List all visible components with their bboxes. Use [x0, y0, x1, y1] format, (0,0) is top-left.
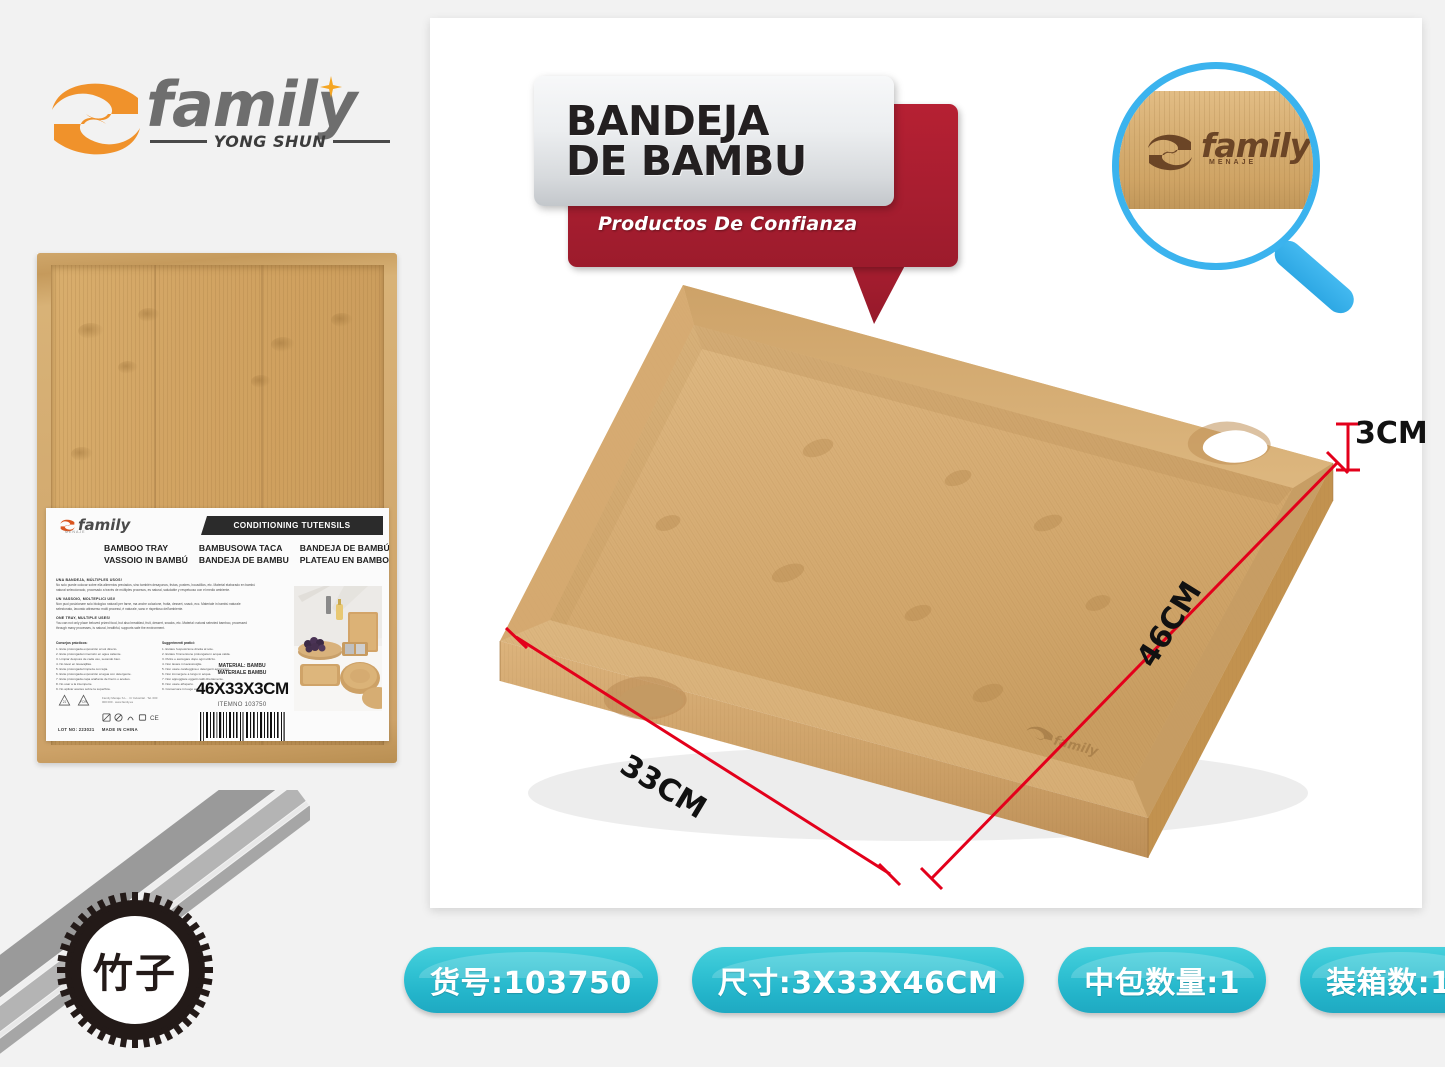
label-names-col-3: BANDEJA DE BAMBÚ PLATEAU EN BAMBOU: [300, 542, 389, 567]
label-care-8: 9. No aplicar aceites sobre la superfici…: [56, 687, 152, 692]
label-names-col-1: BAMBOO TRAY VASSOIO IN BAMBÚ: [104, 542, 188, 567]
badge-inner-pack-qty[interactable]: 中包数量:1: [1058, 947, 1266, 1013]
label-heading-en: ONE TRAY, MULTIPLE USES!: [56, 616, 256, 620]
engraved-brand-sub: MENAJE: [1209, 159, 1256, 166]
svg-text:FOR: FOR: [80, 700, 88, 704]
label-name-pt: BANDEJA DE BAMBU: [199, 554, 289, 566]
label-lot-and-origin: LOT NO: 223021 MADE IN CHINA: [58, 727, 138, 732]
material-badge-text: 竹子: [55, 890, 215, 1050]
brand-tagline: YONG SHUN: [214, 132, 327, 151]
banner-title-line1: BANDEJA: [566, 101, 894, 141]
label-care-col-es: Consejos prácticos: 1. Evite prolongada …: [56, 641, 152, 691]
badge-size-label: 尺寸:3X33X46CM: [718, 958, 999, 1002]
label-category-text: CONDITIONING TUTENSILS: [233, 521, 350, 530]
tagline-rule-right: [333, 140, 390, 143]
label-recycle-icons: 21 FOR: [58, 694, 90, 707]
banner-title-panel: BANDEJA DE BAMBU: [534, 76, 894, 206]
label-description-block: UNA BANDEJA, MÚLTIPLES USOS! No solo pue…: [56, 574, 256, 631]
family-hands-icon: [50, 80, 142, 158]
label-pictograms: CE: [102, 713, 159, 722]
label-company-address: Family Menaje S.L. · C/ Industrial · Tel…: [102, 696, 160, 705]
material-badge: 竹子: [55, 890, 215, 1050]
badge-inner-pack-qty-label: 中包数量:1: [1084, 958, 1240, 1002]
svg-text:21: 21: [63, 700, 67, 704]
barcode-icon: [198, 712, 286, 742]
badge-item-number-label: 货号:103750: [430, 958, 632, 1002]
bamboo-tray-illustration: family: [488, 273, 1348, 883]
label-names-col-2: BAMBUSOWA TACA BANDEJA DE BAMBU: [199, 542, 289, 567]
label-product-names: BAMBOO TRAY VASSOIO IN BAMBÚ BAMBUSOWA T…: [104, 542, 381, 567]
hand-wash-icon: [138, 713, 147, 722]
tray-product-photo: family: [488, 273, 1348, 883]
label-lifestyle-photo: [294, 586, 382, 711]
label-made-in: MADE IN CHINA: [102, 727, 138, 732]
engraved-logo: family MENAJE: [1147, 129, 1297, 173]
ce-mark-icon: CE: [150, 713, 159, 722]
engraved-hands-icon: [1147, 133, 1193, 172]
brand-logo: family YONG SHUN: [50, 72, 390, 172]
label-text-it: Non puoi posizionare solo biologico natu…: [56, 602, 256, 612]
lifestyle-scene-icon: [294, 586, 382, 711]
label-text-es: No solo puede colocar sobre ella aliment…: [56, 583, 256, 593]
svg-text:CE: CE: [150, 715, 159, 722]
recycle-icon-2: FOR: [77, 694, 90, 707]
label-name-it: VASSOIO IN BAMBÚ: [104, 554, 188, 566]
label-category-banner: CONDITIONING TUTENSILS: [201, 516, 383, 535]
badge-size[interactable]: 尺寸:3X33X46CM: [692, 947, 1025, 1013]
recycle-icon-1: 21: [58, 694, 71, 707]
badge-carton-qty[interactable]: 装箱数:10: [1300, 947, 1445, 1013]
label-name-en: BAMBOO TRAY: [104, 542, 188, 554]
label-item-no: ITEMNO 103750: [196, 702, 288, 708]
food-safe-icon: [126, 713, 135, 722]
label-material-block: MATERIAL: BAMBU MATERIALE BAMBU 46X33X3C…: [196, 663, 288, 741]
no-dishwasher-icon: [102, 713, 111, 722]
label-lot-no: LOT NO: 223021: [58, 727, 95, 732]
label-material-line1: MATERIAL: BAMBU: [196, 663, 288, 670]
label-brand-name: family: [78, 518, 130, 533]
label-heading-it: UN VASSOIO, MOLTEPLICI USI!: [56, 597, 256, 601]
label-size: 46X33X3CM: [196, 679, 288, 699]
main-product-card: BANDEJA DE BAMBU Productos De Confianza …: [430, 18, 1422, 908]
dim-label-height: 3CM: [1355, 416, 1428, 451]
label-heading-es: UNA BANDEJA, MÚLTIPLES USOS!: [56, 578, 256, 582]
sparkle-icon: [320, 76, 342, 98]
label-material-line2: MATERIALE BAMBU: [196, 670, 288, 677]
brand-tagline-row: YONG SHUN: [150, 132, 390, 151]
product-listing-page: family YONG SHUN: [0, 0, 1445, 1067]
label-text-en: You can not only place beloved prized fo…: [56, 621, 256, 631]
badge-carton-qty-label: 装箱数:10: [1326, 958, 1445, 1002]
badge-item-number[interactable]: 货号:103750: [404, 947, 658, 1013]
label-brand-sub: MENAJE: [65, 530, 86, 534]
label-name-pl: BAMBUSOWA TACA: [199, 542, 289, 554]
label-tips-title: Suggerimenti pratici:: [162, 641, 258, 645]
no-microwave-icon: [114, 713, 123, 722]
package-label: family MENAJE CONDITIONING TUTENSILS BAM…: [46, 508, 389, 741]
magnifier-lens: family MENAJE: [1112, 62, 1320, 270]
title-banner: BANDEJA DE BAMBU Productos De Confianza: [520, 70, 990, 300]
banner-subtitle: Productos De Confianza: [598, 213, 857, 235]
label-name-es: BANDEJA DE BAMBÚ: [300, 542, 389, 554]
banner-title-line2: DE BAMBU: [566, 141, 894, 181]
info-badges: 货号:103750 尺寸:3X33X46CM 中包数量:1 装箱数:10: [404, 947, 1445, 1013]
tagline-rule-left: [150, 140, 207, 143]
label-care-title: Consejos prácticos:: [56, 641, 152, 645]
label-name-fr: PLATEAU EN BAMBOU: [300, 554, 389, 566]
